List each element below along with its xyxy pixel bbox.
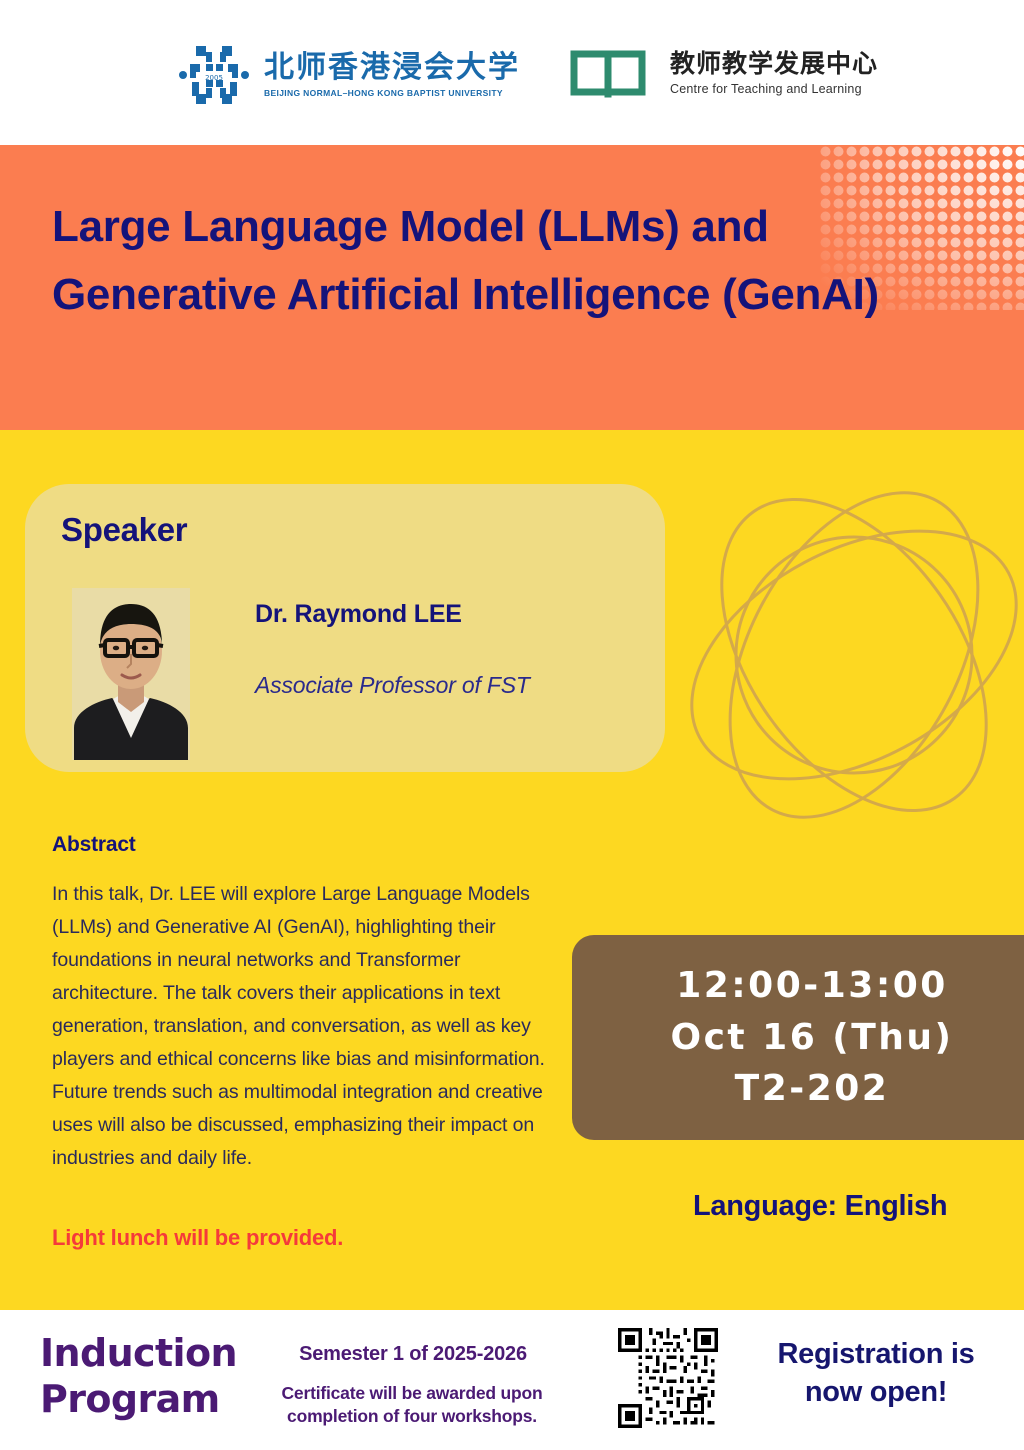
registration-line-2: now open! [740, 1374, 1012, 1412]
speaker-portrait [72, 588, 190, 760]
open-book-icon [560, 42, 656, 104]
page-title: Large Language Model (LLMs) and Generati… [52, 193, 982, 329]
svg-text:2005: 2005 [205, 74, 223, 82]
title-band: Large Language Model (LLMs) and Generati… [0, 145, 1024, 430]
registration-qr-code[interactable] [618, 1328, 718, 1428]
title-line-2: Generative Artificial Intelligence (GenA… [52, 261, 982, 329]
ctl-name-chinese: 教师教学发展中心 [670, 50, 878, 78]
ctl-wordmark: 教师教学发展中心 Centre for Teaching and Learnin… [670, 50, 878, 96]
event-details-box: 12:00-13:00 Oct 16 (Thu) T2-202 [572, 935, 1024, 1140]
event-venue: T2-202 [735, 1064, 890, 1114]
light-lunch-note: Light lunch will be provided. [52, 1225, 343, 1251]
bnbu-wordmark: 北师香港浸会大学 BEIJING NORMAL–HONG KONG BAPTIS… [264, 52, 520, 97]
induction-line-1: Induction [40, 1330, 237, 1376]
header-bar: 2005 北师香港浸会大学 BEIJING NORMAL–HONG KONG B… [0, 0, 1024, 145]
abstract-body: In this talk, Dr. LEE will explore Large… [52, 878, 562, 1175]
semester-label: Semester 1 of 2025-2026 [258, 1343, 568, 1366]
speaker-name: Dr. Raymond LEE [255, 600, 462, 629]
speaker-heading: Speaker [61, 511, 187, 549]
speaker-card: Speaker [25, 484, 665, 772]
title-line-1: Large Language Model (LLMs) and [52, 193, 982, 261]
body-band: Speaker [0, 430, 1024, 1310]
event-language: Language: English [693, 1190, 947, 1223]
ctl-logo: 教师教学发展中心 Centre for Teaching and Learnin… [560, 42, 878, 104]
atom-orbit-line-art-icon [654, 430, 1024, 880]
event-date: Oct 16 (Thu) [670, 1013, 953, 1063]
induction-program-label: Induction Program [40, 1330, 237, 1423]
registration-line-1: Registration is [740, 1336, 1012, 1374]
certificate-note: Certificate will be awarded upon complet… [252, 1382, 572, 1428]
induction-line-2: Program [40, 1376, 237, 1422]
abstract-heading: Abstract [52, 833, 136, 857]
certificate-line-1: Certificate will be awarded upon [252, 1382, 572, 1405]
registration-message: Registration is now open! [740, 1336, 1012, 1411]
event-time: 12:00-13:00 [676, 961, 948, 1011]
bnbu-emblem-icon: 2005 [176, 40, 252, 110]
speaker-title: Associate Professor of FST [255, 672, 530, 699]
bnbu-name-english: BEIJING NORMAL–HONG KONG BAPTIST UNIVERS… [264, 88, 520, 98]
ctl-name-english: Centre for Teaching and Learning [670, 82, 878, 96]
bnbu-name-chinese: 北师香港浸会大学 [264, 52, 520, 84]
poster-root: 2005 北师香港浸会大学 BEIJING NORMAL–HONG KONG B… [0, 0, 1024, 1450]
certificate-line-2: completion of four workshops. [252, 1405, 572, 1428]
bnbu-logo: 2005 北师香港浸会大学 BEIJING NORMAL–HONG KONG B… [176, 40, 520, 110]
